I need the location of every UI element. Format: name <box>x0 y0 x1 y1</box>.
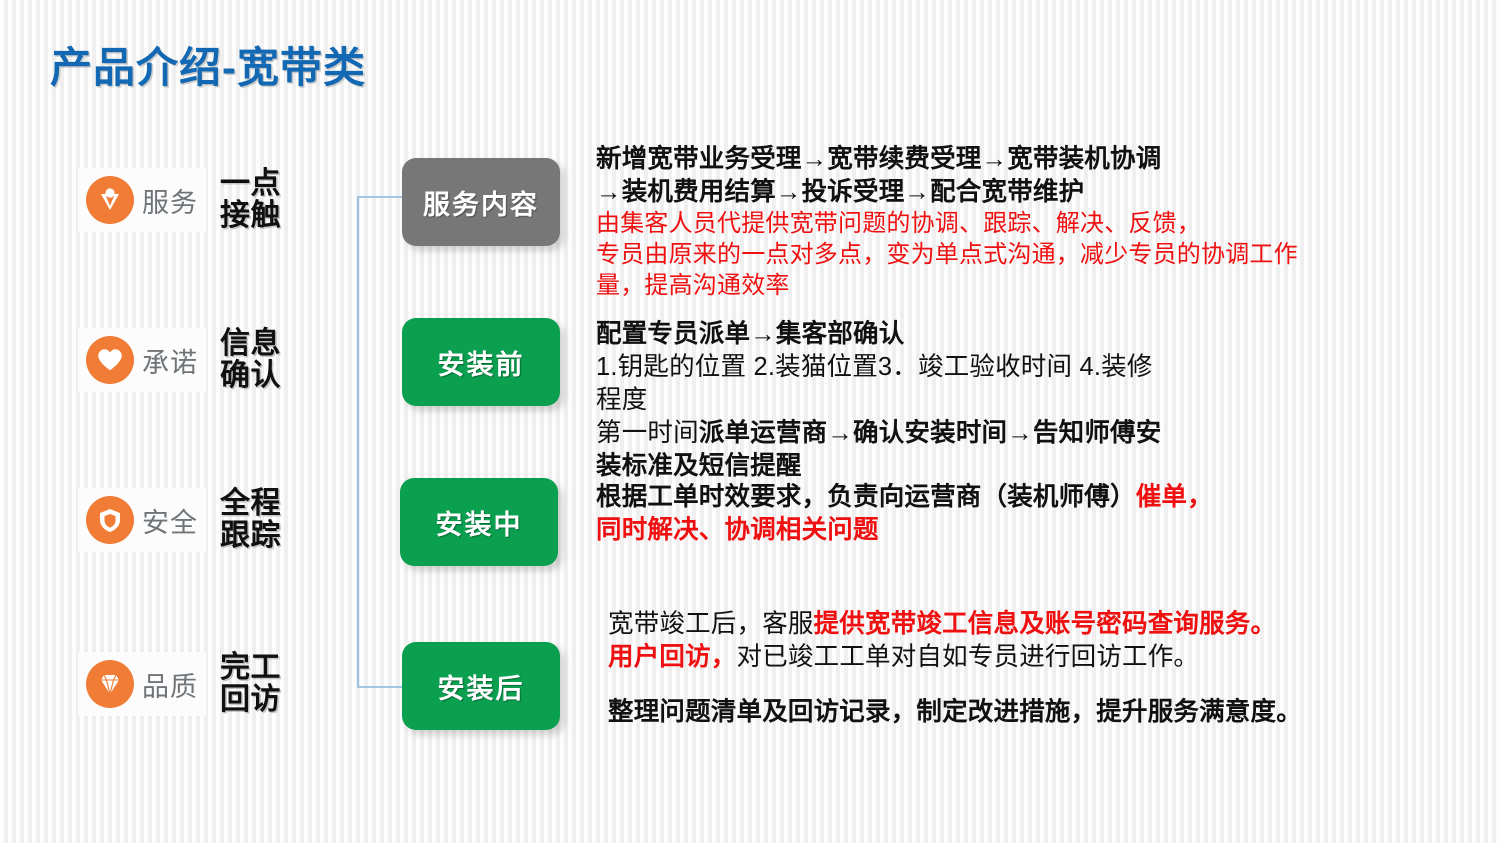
stage-box-service-content[interactable]: 服务内容 <box>402 158 560 246</box>
dispatch-bold-2: 装标准及短信提醒 <box>596 450 1386 483</box>
stage-box-after-install[interactable]: 安装后 <box>402 642 560 730</box>
before-install-items-line-1: 1.钥匙的位置 2.装猫位置3．竣工验收时间 4.装修 <box>596 351 1386 384</box>
quality-diamond-icon <box>86 660 134 708</box>
stage-box-label-2: 安装前 <box>438 343 525 382</box>
commitment-heart-icon <box>86 336 134 384</box>
after-install-text: 宽带竣工后，客服提供宽带竣工信息及账号密码查询服务。 用户回访，对已竣工工单对自… <box>608 608 1408 729</box>
after-install-red-2: 用户回访， <box>608 643 737 671</box>
service-content-text: 新增宽带业务受理→宽带续费受理→宽带装机协调 →装机费用结算→投诉受理→配合宽带… <box>596 143 1386 302</box>
service-flow-line-1: 新增宽带业务受理→宽带续费受理→宽带装机协调 <box>596 143 1386 176</box>
safety-shield-icon <box>86 496 134 544</box>
stage-box-during-install[interactable]: 安装中 <box>400 478 558 566</box>
stage-row-2: 承诺 信息 确认 <box>78 328 281 393</box>
stage-icon-card-2: 承诺 <box>78 328 206 392</box>
during-install-black: 根据工单时效要求，负责向运营商（装机师傅） <box>596 483 1136 511</box>
after-install-line-2: 用户回访，对已竣工工单对自如专员进行回访工作。 <box>608 641 1408 674</box>
during-install-red-2: 同时解决、协调相关问题 <box>596 514 1396 547</box>
before-install-dispatch-line-1: 第一时间派单运营商→确认安装时间→告知师傅安 <box>596 417 1386 450</box>
stage-icon-card-3: 安全 <box>78 488 206 552</box>
stage-icon-card-1: 服务 <box>78 168 206 232</box>
during-install-text: 根据工单时效要求，负责向运营商（装机师傅）催单， 同时解决、协调相关问题 <box>596 481 1396 547</box>
before-install-items-line-2: 程度 <box>596 384 1386 417</box>
before-install-text: 配置专员派单→集客部确认 1.钥匙的位置 2.装猫位置3．竣工验收时间 4.装修… <box>596 318 1386 482</box>
stage-icon-word-4: 品质 <box>142 665 198 704</box>
during-install-line-1: 根据工单时效要求，负责向运营商（装机师傅）催单， <box>596 481 1396 514</box>
stage-row-4: 品质 完工 回访 <box>78 652 281 717</box>
stage-label-2: 信息 确认 <box>220 328 281 393</box>
after-install-red-1: 提供宽带竣工信息及账号密码查询服务。 <box>814 610 1277 638</box>
after-install-summary: 整理问题清单及回访记录，制定改进措施，提升服务满意度。 <box>608 696 1408 729</box>
page-title: 产品介绍-宽带类 <box>50 34 366 95</box>
during-install-red-1: 催单， <box>1136 483 1213 511</box>
dispatch-bold-1: 派单运营商→确认安装时间→告知师傅安 <box>699 419 1162 447</box>
stage-box-label-3: 安装中 <box>436 503 523 542</box>
stage-label-4: 完工 回访 <box>220 652 281 717</box>
stage-icon-word-1: 服务 <box>142 181 198 220</box>
service-flow-line-2: →装机费用结算→投诉受理→配合宽带维护 <box>596 176 1386 209</box>
stage-icon-word-3: 安全 <box>142 501 198 540</box>
stage-label-3: 全程 跟踪 <box>220 488 281 553</box>
after-install-plain-1: 宽带竣工后，客服 <box>608 610 814 638</box>
after-install-spacer <box>608 674 1408 696</box>
service-note-line-1: 由集客人员代提供宽带问题的协调、跟踪、解决、反馈， <box>596 209 1386 240</box>
service-pin-icon <box>86 176 134 224</box>
after-install-plain-2: 对已竣工工单对自如专员进行回访工作。 <box>737 643 1200 671</box>
stage-row-1: 服务 一点 接触 <box>78 168 281 233</box>
dispatch-prefix: 第一时间 <box>596 419 699 447</box>
connector-bracket <box>348 196 406 688</box>
stage-box-label-4: 安装后 <box>438 667 525 706</box>
stage-row-3: 安全 全程 跟踪 <box>78 488 281 553</box>
service-note-line-3: 量，提高沟通效率 <box>596 271 1386 302</box>
before-install-heading: 配置专员派单→集客部确认 <box>596 318 1386 351</box>
service-note-line-2: 专员由原来的一点对多点，变为单点式沟通，减少专员的协调工作 <box>596 240 1386 271</box>
stage-box-label-1: 服务内容 <box>423 183 539 222</box>
stage-label-1: 一点 接触 <box>220 168 281 233</box>
stage-box-before-install[interactable]: 安装前 <box>402 318 560 406</box>
stage-icon-word-2: 承诺 <box>142 341 198 380</box>
stage-icon-card-4: 品质 <box>78 652 206 716</box>
after-install-line-1: 宽带竣工后，客服提供宽带竣工信息及账号密码查询服务。 <box>608 608 1408 641</box>
